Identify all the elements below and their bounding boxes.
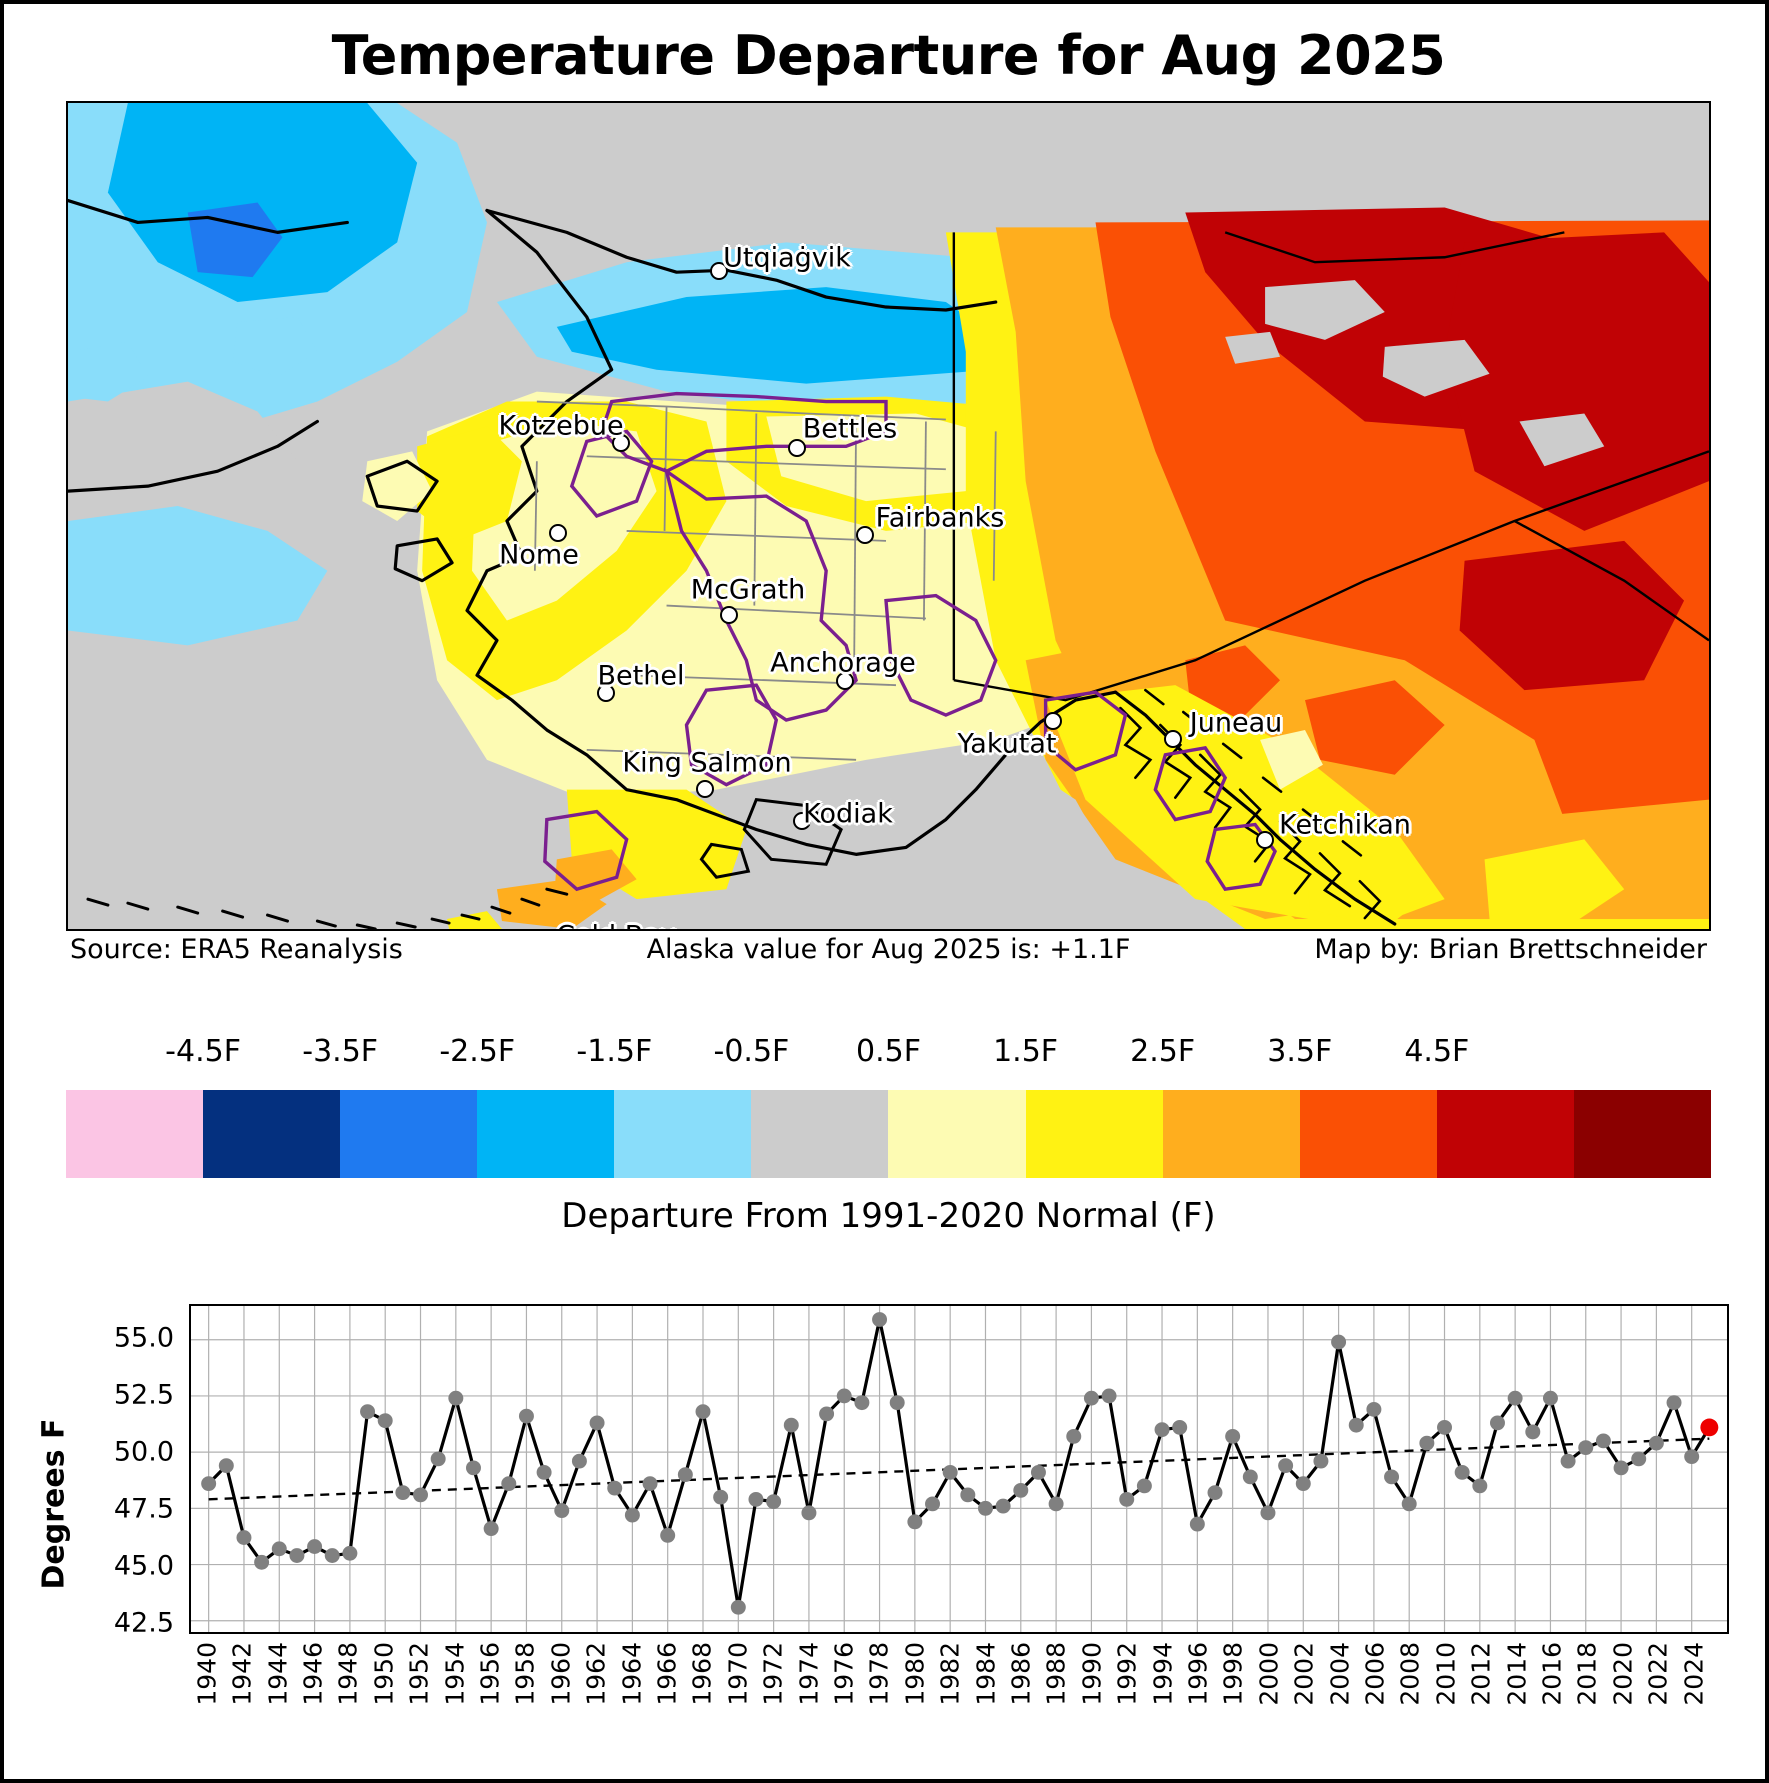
data-point <box>872 1312 887 1327</box>
x-tick-2006: 2006 <box>1360 1642 1389 1706</box>
data-point <box>554 1503 569 1518</box>
data-point <box>413 1487 428 1502</box>
y-tick-55.0: 55.0 <box>114 1323 174 1354</box>
data-point <box>1366 1402 1381 1417</box>
data-point <box>625 1508 640 1523</box>
x-tick-1980: 1980 <box>900 1642 929 1706</box>
x-tick-1954: 1954 <box>440 1642 469 1706</box>
data-point <box>1155 1422 1170 1437</box>
city-label-utqia-vik: Utqiaġvik <box>723 243 851 274</box>
data-point <box>1578 1440 1593 1455</box>
data-point <box>590 1416 605 1431</box>
x-tick-1940: 1940 <box>192 1642 221 1706</box>
colorbar-tick-3.5F: 3.5F <box>1267 1034 1332 1069</box>
colorbar-tick--0.5F: -0.5F <box>714 1034 790 1069</box>
data-point <box>1384 1469 1399 1484</box>
colorbar-swatch-0 <box>66 1090 203 1178</box>
x-tick-1994: 1994 <box>1148 1642 1177 1706</box>
data-point <box>1172 1420 1187 1435</box>
x-axis-tick-labels: 1940194219441946194819501952195419561958… <box>189 1642 1729 1762</box>
x-tick-1944: 1944 <box>263 1642 292 1706</box>
y-tick-50.0: 50.0 <box>114 1436 174 1467</box>
colorbar-swatch-10 <box>1437 1090 1574 1178</box>
x-tick-2010: 2010 <box>1431 1642 1460 1706</box>
highlight-data-point-top <box>1700 1419 1718 1437</box>
y-tick-45.0: 45.0 <box>114 1550 174 1581</box>
x-tick-2000: 2000 <box>1254 1642 1283 1706</box>
data-point <box>1596 1433 1611 1448</box>
data-point <box>1013 1483 1028 1498</box>
colorbar-tick--3.5F: -3.5F <box>302 1034 378 1069</box>
data-point <box>801 1505 816 1520</box>
colorbar-tick--1.5F: -1.5F <box>576 1034 652 1069</box>
x-tick-2022: 2022 <box>1644 1642 1673 1706</box>
city-dot-ketchikan <box>1256 831 1274 849</box>
data-point <box>678 1467 693 1482</box>
data-point <box>395 1485 410 1500</box>
colorbar-swatch-7 <box>1026 1090 1163 1178</box>
city-label-kotzebue: Kotzebue <box>498 411 623 442</box>
data-point <box>1066 1429 1081 1444</box>
data-point <box>748 1492 763 1507</box>
data-point <box>1402 1496 1417 1511</box>
data-point <box>1137 1478 1152 1493</box>
data-point <box>484 1521 499 1536</box>
data-point <box>1543 1391 1558 1406</box>
colorbar-swatch-5 <box>751 1090 888 1178</box>
data-point <box>289 1548 304 1563</box>
data-point <box>1031 1465 1046 1480</box>
city-label-ketchikan: Ketchikan <box>1279 810 1411 841</box>
city-dot-fairbanks <box>856 526 874 544</box>
x-tick-2014: 2014 <box>1502 1642 1531 1706</box>
data-point <box>1313 1454 1328 1469</box>
city-label-bethel: Bethel <box>598 661 685 692</box>
x-tick-2020: 2020 <box>1608 1642 1637 1706</box>
x-tick-2002: 2002 <box>1290 1642 1319 1706</box>
data-point <box>1278 1458 1293 1473</box>
page-title: Temperature Departure for Aug 2025 <box>4 24 1769 87</box>
data-point <box>1349 1418 1364 1433</box>
data-point <box>254 1555 269 1570</box>
data-point <box>925 1496 940 1511</box>
data-point <box>1561 1454 1576 1469</box>
data-point <box>819 1407 834 1422</box>
city-label-kodiak: Kodiak <box>803 799 893 830</box>
data-point <box>1490 1416 1505 1431</box>
data-point <box>1331 1335 1346 1350</box>
data-point <box>978 1501 993 1516</box>
timeseries-chart: Degrees F 42.545.047.550.052.555.0 19401… <box>44 1294 1744 1764</box>
x-tick-2008: 2008 <box>1396 1642 1425 1706</box>
x-tick-1976: 1976 <box>829 1642 858 1706</box>
x-tick-1996: 1996 <box>1183 1642 1212 1706</box>
colorbar-tick-2.5F: 2.5F <box>1130 1034 1195 1069</box>
data-point <box>1525 1424 1540 1439</box>
data-point <box>1437 1420 1452 1435</box>
x-tick-1960: 1960 <box>546 1642 575 1706</box>
data-point <box>360 1404 375 1419</box>
x-tick-1972: 1972 <box>759 1642 788 1706</box>
colorbar-swatch-9 <box>1300 1090 1437 1178</box>
x-tick-1970: 1970 <box>723 1642 752 1706</box>
data-point <box>307 1539 322 1554</box>
data-point <box>272 1541 287 1556</box>
data-point <box>1084 1391 1099 1406</box>
data-point <box>1472 1478 1487 1493</box>
data-point <box>1049 1496 1064 1511</box>
data-point <box>607 1481 622 1496</box>
x-tick-1962: 1962 <box>582 1642 611 1706</box>
data-point <box>1119 1492 1134 1507</box>
colorbar-swatch-3 <box>477 1090 614 1178</box>
x-tick-1968: 1968 <box>688 1642 717 1706</box>
data-point <box>907 1514 922 1529</box>
data-point <box>448 1391 463 1406</box>
x-tick-2018: 2018 <box>1573 1642 1602 1706</box>
data-point <box>1631 1451 1646 1466</box>
x-tick-1942: 1942 <box>228 1642 257 1706</box>
data-point <box>943 1465 958 1480</box>
data-point <box>960 1487 975 1502</box>
colorbar-swatches <box>66 1090 1711 1178</box>
colorbar-tick-0.5F: 0.5F <box>856 1034 921 1069</box>
data-point <box>537 1465 552 1480</box>
data-point <box>643 1476 658 1491</box>
data-point <box>1508 1391 1523 1406</box>
x-tick-1952: 1952 <box>405 1642 434 1706</box>
data-point <box>1208 1485 1223 1500</box>
x-tick-2024: 2024 <box>1679 1642 1708 1706</box>
colorbar-swatch-2 <box>340 1090 477 1178</box>
x-tick-1946: 1946 <box>298 1642 327 1706</box>
data-point <box>519 1409 534 1424</box>
x-tick-1998: 1998 <box>1219 1642 1248 1706</box>
y-tick-47.5: 47.5 <box>114 1493 174 1524</box>
colorbar-swatch-4 <box>614 1090 751 1178</box>
data-point <box>1667 1395 1682 1410</box>
data-point <box>713 1490 728 1505</box>
y-tick-52.5: 52.5 <box>114 1380 174 1411</box>
y-tick-42.5: 42.5 <box>114 1607 174 1638</box>
data-point <box>572 1454 587 1469</box>
x-tick-1974: 1974 <box>794 1642 823 1706</box>
data-point <box>1102 1389 1117 1404</box>
plot-area <box>189 1304 1729 1634</box>
city-dot-mcgrath <box>720 606 738 624</box>
x-tick-1964: 1964 <box>617 1642 646 1706</box>
data-point <box>219 1458 234 1473</box>
data-point <box>236 1530 251 1545</box>
y-axis-tick-labels: 42.545.047.550.052.555.0 <box>84 1294 184 1634</box>
data-point <box>1649 1436 1664 1451</box>
city-label-nome: Nome <box>499 540 579 571</box>
data-point <box>466 1460 481 1475</box>
x-tick-2012: 2012 <box>1467 1642 1496 1706</box>
data-point <box>1419 1436 1434 1451</box>
data-point <box>201 1476 216 1491</box>
colorbar-swatch-11 <box>1574 1090 1711 1178</box>
x-tick-1978: 1978 <box>865 1642 894 1706</box>
map-caption-row: Source: ERA5 Reanalysis Alaska value for… <box>66 934 1711 978</box>
x-tick-1950: 1950 <box>369 1642 398 1706</box>
colorbar-swatch-6 <box>888 1090 1025 1178</box>
data-point <box>325 1548 340 1563</box>
author-caption: Map by: Brian Brettschneider <box>1314 934 1707 965</box>
temperature-departure-map: UtqiaġvikKotzebueBettlesNomeFairbanksMcG… <box>66 101 1711 931</box>
colorbar-swatch-1 <box>203 1090 340 1178</box>
city-dot-yakutat <box>1044 712 1062 730</box>
data-point <box>342 1546 357 1561</box>
data-point <box>1225 1429 1240 1444</box>
data-point <box>784 1418 799 1433</box>
data-point <box>890 1395 905 1410</box>
colorbar-tick--2.5F: -2.5F <box>439 1034 515 1069</box>
data-point <box>501 1476 516 1491</box>
data-point <box>996 1499 1011 1514</box>
city-label-anchorage: Anchorage <box>770 648 915 679</box>
y-axis-label: Degrees F <box>37 1418 72 1589</box>
colorbar-tick-4.5F: 4.5F <box>1404 1034 1469 1069</box>
x-tick-1992: 1992 <box>1113 1642 1142 1706</box>
data-point <box>1243 1469 1258 1484</box>
data-point <box>1614 1460 1629 1475</box>
data-point <box>731 1600 746 1615</box>
city-label-mcgrath: McGrath <box>691 575 805 606</box>
x-tick-1986: 1986 <box>1006 1642 1035 1706</box>
x-tick-1966: 1966 <box>652 1642 681 1706</box>
data-point <box>766 1494 781 1509</box>
x-tick-1948: 1948 <box>334 1642 363 1706</box>
data-point <box>1296 1476 1311 1491</box>
city-label-cold-bay: Cold Bay <box>556 921 676 932</box>
data-point <box>660 1528 675 1543</box>
city-label-fairbanks: Fairbanks <box>876 503 1005 534</box>
x-tick-1956: 1956 <box>475 1642 504 1706</box>
data-point <box>1684 1449 1699 1464</box>
city-label-king-salmon: King Salmon <box>622 748 791 779</box>
data-point <box>1455 1465 1470 1480</box>
colorbar: -4.5F-3.5F-2.5F-1.5F-0.5F0.5F1.5F2.5F3.5… <box>66 1034 1711 1234</box>
colorbar-swatch-8 <box>1163 1090 1300 1178</box>
data-point <box>837 1389 852 1404</box>
x-tick-2004: 2004 <box>1325 1642 1354 1706</box>
x-tick-1988: 1988 <box>1042 1642 1071 1706</box>
data-point <box>854 1395 869 1410</box>
data-point <box>1190 1517 1205 1532</box>
city-label-juneau: Juneau <box>1190 708 1282 739</box>
x-tick-1958: 1958 <box>511 1642 540 1706</box>
data-point <box>1260 1505 1275 1520</box>
city-label-bettles: Bettles <box>803 414 898 445</box>
figure-root: Temperature Departure for Aug 2025 <box>0 0 1769 1783</box>
data-point <box>378 1413 393 1428</box>
timeseries-svg <box>191 1306 1727 1632</box>
data-point <box>696 1404 711 1419</box>
data-point <box>431 1451 446 1466</box>
x-tick-1984: 1984 <box>971 1642 1000 1706</box>
city-label-yakutat: Yakutat <box>958 729 1057 760</box>
colorbar-tick-1.5F: 1.5F <box>993 1034 1058 1069</box>
colorbar-caption: Departure From 1991-2020 Normal (F) <box>66 1196 1711 1236</box>
city-dot-juneau <box>1164 730 1182 748</box>
x-tick-1990: 1990 <box>1077 1642 1106 1706</box>
x-tick-1982: 1982 <box>936 1642 965 1706</box>
city-dot-king-salmon <box>696 780 714 798</box>
colorbar-tick-labels: -4.5F-3.5F-2.5F-1.5F-0.5F0.5F1.5F2.5F3.5… <box>66 1034 1711 1086</box>
x-tick-2016: 2016 <box>1537 1642 1566 1706</box>
colorbar-tick--4.5F: -4.5F <box>165 1034 241 1069</box>
